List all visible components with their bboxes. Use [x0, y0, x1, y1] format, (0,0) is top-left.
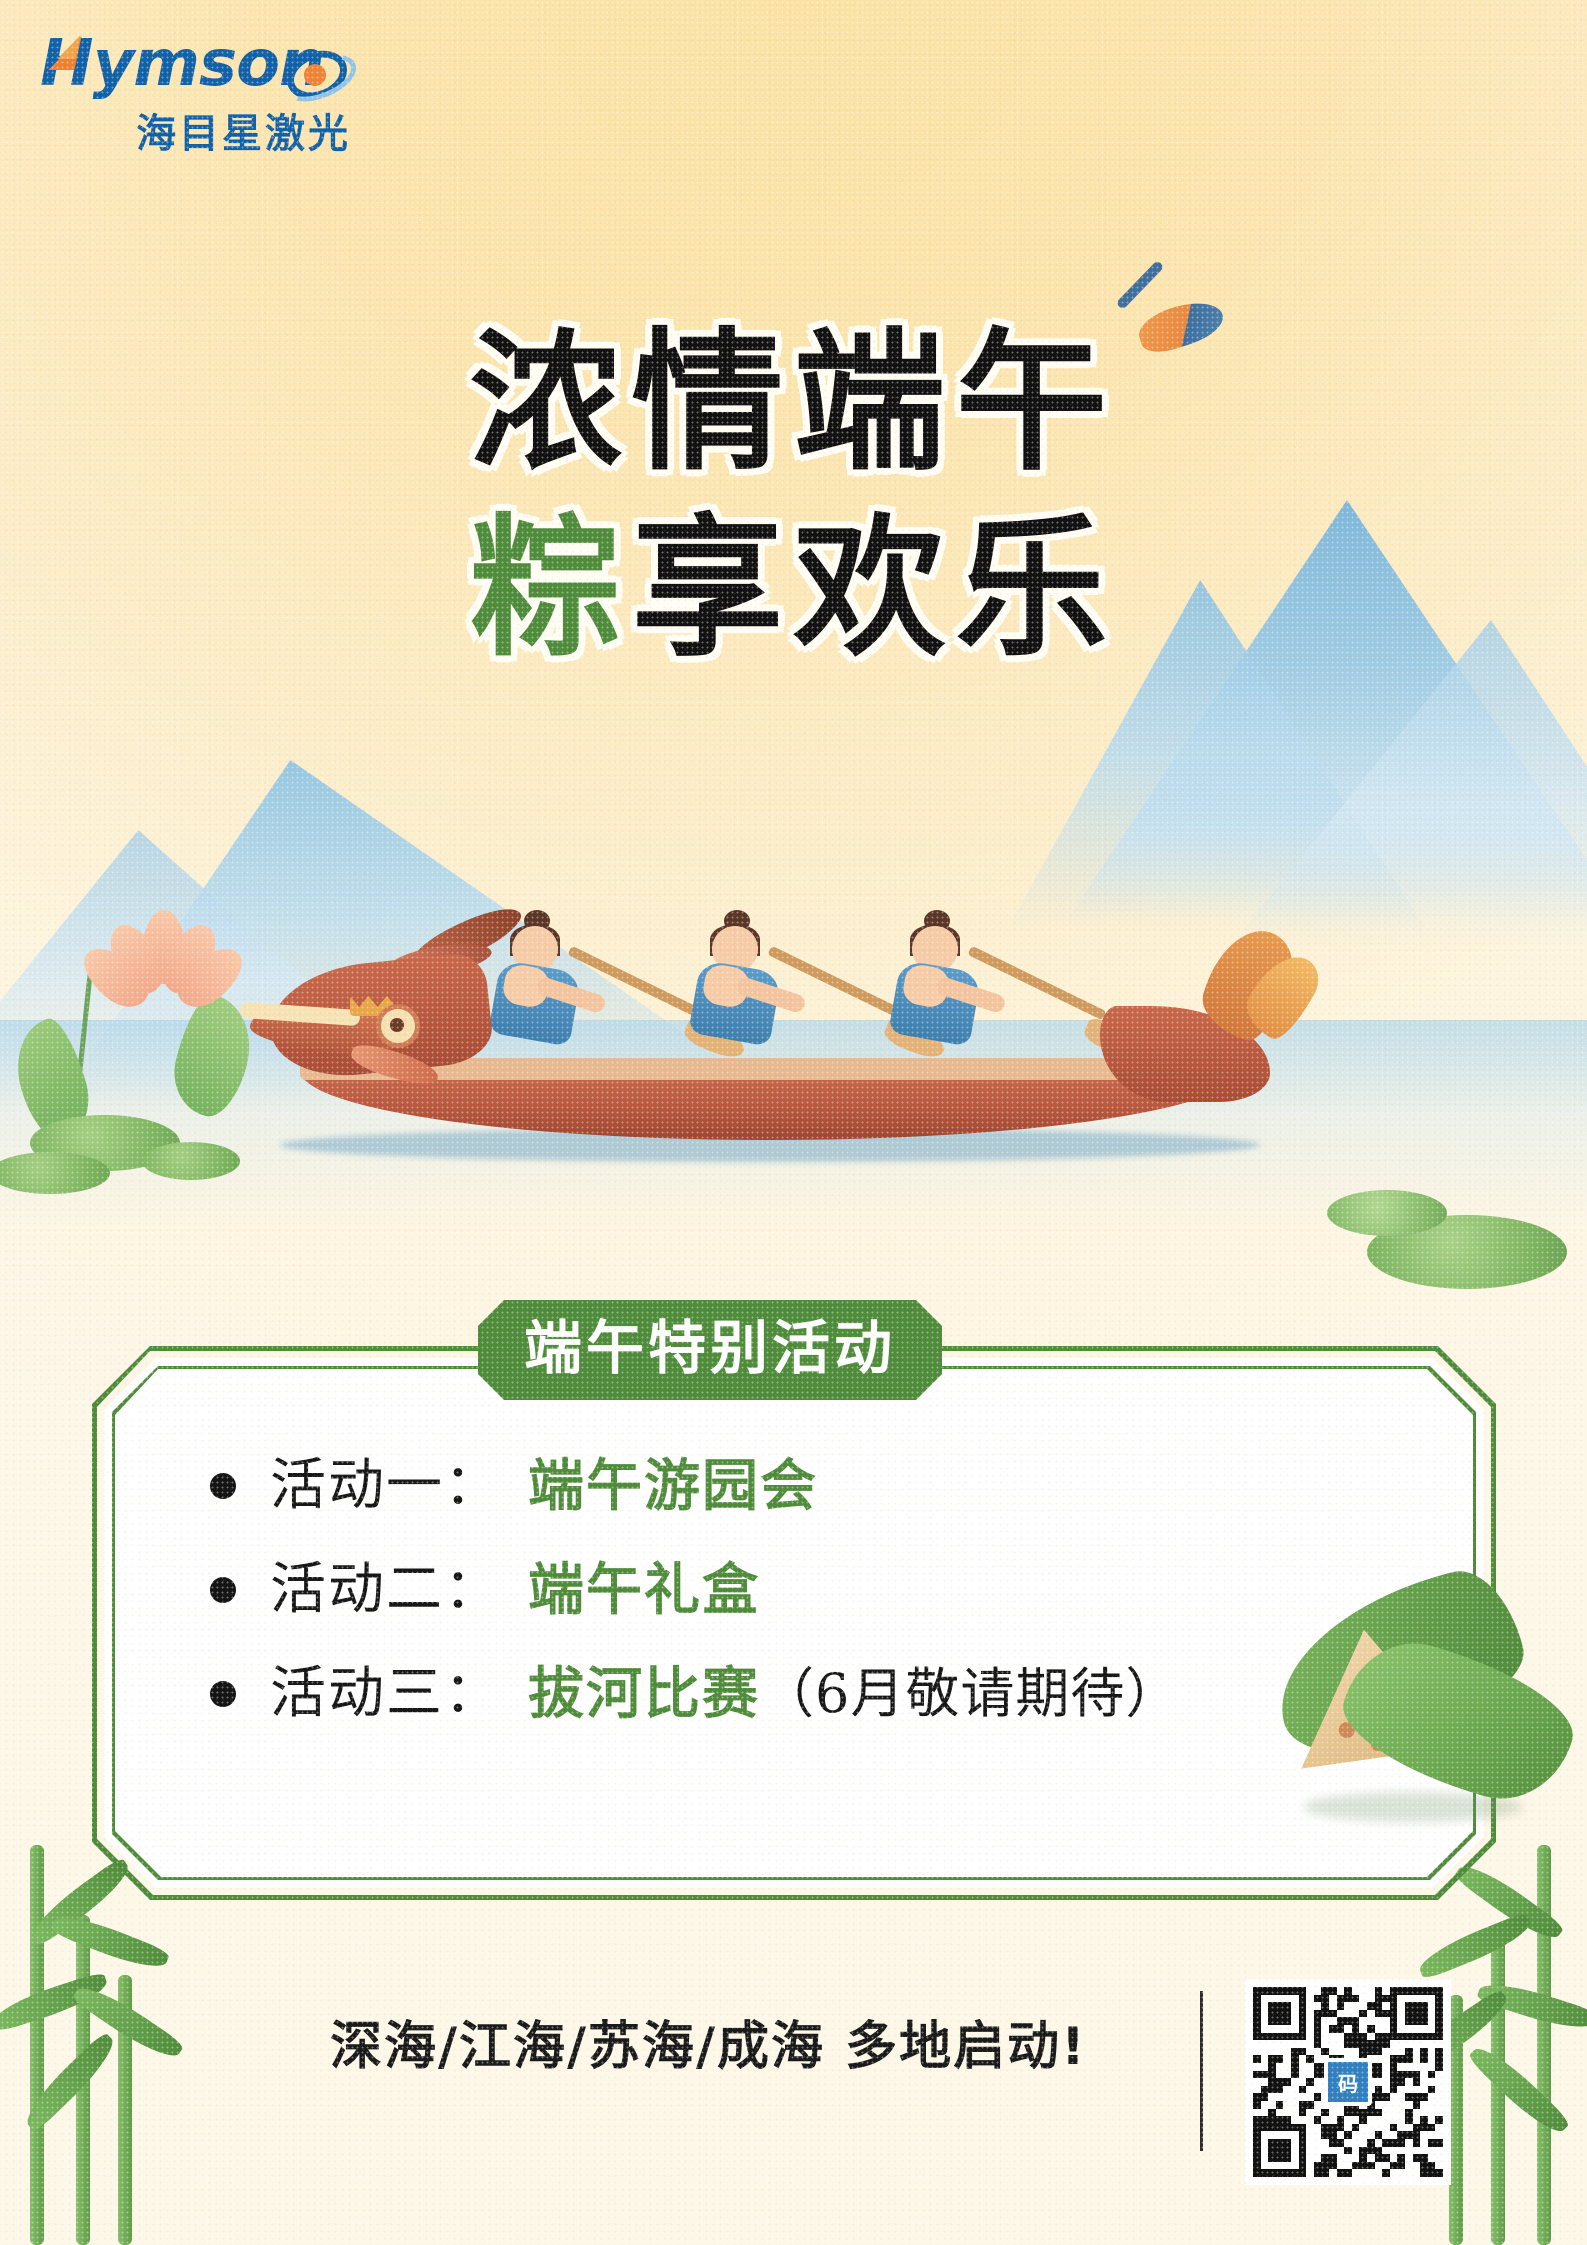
- logo-wordmark: Hymson: [40, 32, 440, 110]
- footer-divider: [1200, 1991, 1203, 2151]
- qr-center-logo: 码: [1324, 2058, 1372, 2106]
- section-badge: 端午特别活动: [478, 1300, 942, 1400]
- title-line-2-rest: 享欢乐: [632, 498, 1118, 677]
- logo-orbit-icon: [286, 52, 348, 98]
- logo-chinese-text: 海目星激光: [136, 112, 440, 156]
- rower-2: [670, 908, 820, 1098]
- dragon-boat-illustration: [270, 890, 1300, 1220]
- title-line-1: 浓情端午: [0, 318, 1587, 486]
- bullet-icon: [210, 1473, 236, 1499]
- footer-text: 深海/江海/苏海/成海 多地启动!: [330, 2017, 1087, 2077]
- title-highlight-char: 粽: [470, 498, 632, 677]
- title-line-2: 粽享欢乐: [0, 504, 1587, 672]
- lotus-pad-right-2: [1327, 1190, 1447, 1236]
- activity-value: 端午礼盒: [528, 1559, 760, 1621]
- activity-label: 活动一：: [270, 1455, 502, 1517]
- activity-label: 活动三：: [270, 1663, 502, 1725]
- dragon-tail-icon: [1090, 926, 1310, 1116]
- page-title: 浓情端午 粽享欢乐: [0, 318, 1587, 672]
- activity-list: 活动一： 端午游园会 活动二： 端午礼盒 活动三： 拔河比赛 （6月敬请期待）: [210, 1455, 1390, 1767]
- activity-note: （6月敬请期待）: [760, 1663, 1180, 1725]
- brand-logo: Hymson 海目星激光: [40, 32, 440, 162]
- activity-item-3: 活动三： 拔河比赛 （6月敬请期待）: [210, 1663, 1390, 1725]
- zongzi-illustration: [1233, 1560, 1563, 1850]
- section-badge-label: 端午特别活动: [524, 1314, 896, 1382]
- logo-latin-text: Hymson: [40, 32, 324, 96]
- poster-canvas: Hymson 海目星激光 浓情端午 粽享欢乐: [0, 0, 1587, 2245]
- dragon-head-icon: [230, 900, 530, 1120]
- activity-item-1: 活动一： 端午游园会: [210, 1455, 1390, 1517]
- activity-value: 端午游园会: [528, 1455, 818, 1517]
- qr-code[interactable]: 码: [1245, 1979, 1451, 2185]
- activity-value: 拔河比赛: [528, 1663, 760, 1725]
- activity-label: 活动二：: [270, 1559, 502, 1621]
- footer: 深海/江海/苏海/成海 多地启动! 码: [0, 1965, 1587, 2195]
- bullet-icon: [210, 1681, 236, 1707]
- rower-3: [870, 908, 1020, 1098]
- activity-item-2: 活动二： 端午礼盒: [210, 1559, 1390, 1621]
- bullet-icon: [210, 1577, 236, 1603]
